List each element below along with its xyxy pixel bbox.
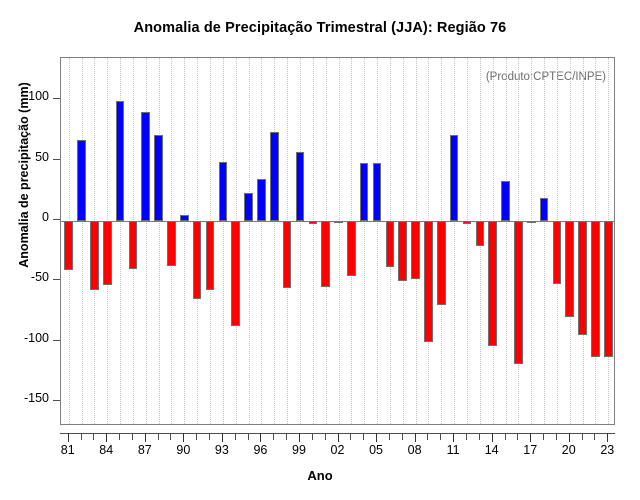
x-tick-mark-1996: [260, 433, 261, 442]
y-tick-label: -100: [24, 332, 49, 345]
x-tick-mark-2010: [440, 433, 441, 440]
y-tick-mark: [53, 159, 60, 160]
bar-2002: [334, 221, 343, 223]
gridline-vertical: [300, 58, 301, 424]
bar-2015: [501, 181, 510, 221]
x-tick-mark-1982: [81, 433, 82, 440]
bar-2012: [463, 221, 472, 225]
x-tick-mark-2019: [556, 433, 557, 440]
bar-2021: [578, 221, 587, 336]
bar-2005: [373, 163, 382, 221]
x-tick-mark-2014: [492, 433, 493, 442]
bar-1998: [283, 221, 292, 289]
bar-1986: [129, 221, 138, 269]
bar-1994: [231, 221, 240, 326]
x-tick-mark-1988: [158, 433, 159, 440]
x-tick-label-2002: 02: [318, 443, 358, 457]
bar-1989: [167, 221, 176, 266]
x-tick-mark-1990: [183, 433, 184, 442]
y-tick-label: -150: [24, 392, 49, 405]
bar-1987: [141, 112, 150, 221]
plot-area: (Produto:CPTEC/INPE): [60, 57, 615, 425]
x-tick-label-1981: 81: [48, 443, 88, 457]
gridline-vertical: [249, 58, 250, 424]
y-tick-mark: [53, 279, 60, 280]
y-tick-label: 50: [35, 151, 49, 164]
gridline-vertical: [467, 58, 468, 424]
x-tick-mark-1987: [145, 433, 146, 442]
gridline-vertical: [313, 58, 314, 424]
x-tick-mark-1981: [68, 433, 69, 442]
x-tick-label-1993: 93: [202, 443, 242, 457]
x-tick-mark-2005: [376, 433, 377, 442]
bar-2007: [398, 221, 407, 281]
gridline-vertical: [82, 58, 83, 424]
x-tick-mark-2002: [338, 433, 339, 442]
bar-1981: [64, 221, 73, 270]
chart-title: Anomalia de Precipitação Trimestral (JJA…: [0, 20, 640, 36]
y-tick-mark: [53, 400, 60, 401]
bar-2006: [386, 221, 395, 267]
bar-1991: [193, 221, 202, 299]
x-tick-label-1999: 99: [279, 443, 319, 457]
gridline-vertical: [531, 58, 532, 424]
gridline-vertical: [159, 58, 160, 424]
bar-1993: [219, 162, 228, 221]
x-tick-mark-2022: [594, 433, 595, 440]
x-tick-mark-2000: [312, 433, 313, 440]
gridline-vertical: [364, 58, 365, 424]
bar-1988: [154, 135, 163, 221]
x-tick-mark-1997: [273, 433, 274, 440]
gridline-vertical: [339, 58, 340, 424]
x-tick-mark-2006: [389, 433, 390, 440]
x-tick-mark-2015: [505, 433, 506, 440]
bar-2000: [309, 221, 318, 225]
y-tick-label: -50: [31, 271, 49, 284]
x-tick-label-2011: 11: [433, 443, 473, 457]
source-annotation: (Produto:CPTEC/INPE): [486, 71, 606, 83]
x-tick-label-2014: 14: [472, 443, 512, 457]
bar-2010: [437, 221, 446, 305]
bar-2022: [591, 221, 600, 357]
x-tick-mark-2011: [453, 433, 454, 442]
x-tick-label-1987: 87: [125, 443, 165, 457]
bar-2009: [424, 221, 433, 342]
y-tick-label: 0: [42, 211, 49, 224]
bar-1985: [116, 101, 125, 220]
bar-2017: [527, 221, 536, 223]
x-tick-mark-2017: [530, 433, 531, 442]
gridline-vertical: [184, 58, 185, 424]
bar-2019: [553, 221, 562, 284]
bar-2013: [476, 221, 485, 246]
x-tick-mark-2013: [479, 433, 480, 440]
x-tick-mark-1999: [299, 433, 300, 442]
bar-2014: [488, 221, 497, 346]
x-tick-mark-1986: [132, 433, 133, 440]
bar-1995: [244, 193, 253, 221]
x-tick-mark-1985: [119, 433, 120, 440]
x-tick-mark-2004: [363, 433, 364, 440]
x-tick-mark-1995: [248, 433, 249, 440]
x-tick-label-2008: 08: [395, 443, 435, 457]
chart-root: Anomalia de Precipitação Trimestral (JJA…: [0, 0, 640, 500]
bar-1983: [90, 221, 99, 290]
x-tick-mark-1983: [93, 433, 94, 440]
x-tick-mark-2023: [607, 433, 608, 442]
bar-2011: [450, 135, 459, 221]
x-tick-mark-2012: [466, 433, 467, 440]
gridline-vertical: [506, 58, 507, 424]
gridline-vertical: [223, 58, 224, 424]
x-tick-label-2020: 20: [549, 443, 589, 457]
bar-2016: [514, 221, 523, 365]
gridline-vertical: [274, 58, 275, 424]
x-tick-label-2005: 05: [356, 443, 396, 457]
bar-1992: [206, 221, 215, 290]
x-tick-mark-1998: [286, 433, 287, 440]
y-tick-mark: [53, 219, 60, 220]
x-tick-mark-2001: [325, 433, 326, 440]
bar-2008: [411, 221, 420, 279]
x-tick-mark-1984: [106, 433, 107, 442]
x-tick-label-2023: 23: [587, 443, 627, 457]
x-tick-mark-1994: [235, 433, 236, 440]
gridline-vertical: [261, 58, 262, 424]
gridline-vertical: [544, 58, 545, 424]
bar-1984: [103, 221, 112, 285]
x-tick-mark-1992: [209, 433, 210, 440]
bar-1982: [77, 140, 86, 221]
x-tick-mark-2003: [350, 433, 351, 440]
x-tick-label-2017: 17: [510, 443, 550, 457]
x-axis-label: Ano: [0, 468, 640, 483]
x-tick-label-1996: 96: [240, 443, 280, 457]
x-tick-label-1984: 84: [86, 443, 126, 457]
gridline-vertical: [454, 58, 455, 424]
bar-2003: [347, 221, 356, 277]
x-tick-mark-1993: [222, 433, 223, 442]
bar-2001: [321, 221, 330, 287]
x-tick-mark-2020: [569, 433, 570, 442]
x-tick-mark-2016: [517, 433, 518, 440]
y-tick-mark: [53, 340, 60, 341]
x-tick-mark-2008: [415, 433, 416, 442]
x-tick-mark-2021: [582, 433, 583, 440]
x-tick-mark-2009: [427, 433, 428, 440]
bar-2004: [360, 163, 369, 221]
x-tick-mark-1991: [196, 433, 197, 440]
y-tick-label: 100: [28, 90, 49, 103]
x-tick-mark-2007: [402, 433, 403, 440]
bar-1990: [180, 215, 189, 221]
x-tick-mark-2018: [543, 433, 544, 440]
bar-2020: [565, 221, 574, 318]
gridline-vertical: [377, 58, 378, 424]
y-tick-mark: [53, 98, 60, 99]
bar-1996: [257, 179, 266, 221]
bar-2018: [540, 198, 549, 221]
bar-1997: [270, 132, 279, 221]
bar-1999: [296, 152, 305, 221]
bar-2023: [604, 221, 613, 357]
x-tick-mark-1989: [170, 433, 171, 440]
x-tick-label-1990: 90: [163, 443, 203, 457]
